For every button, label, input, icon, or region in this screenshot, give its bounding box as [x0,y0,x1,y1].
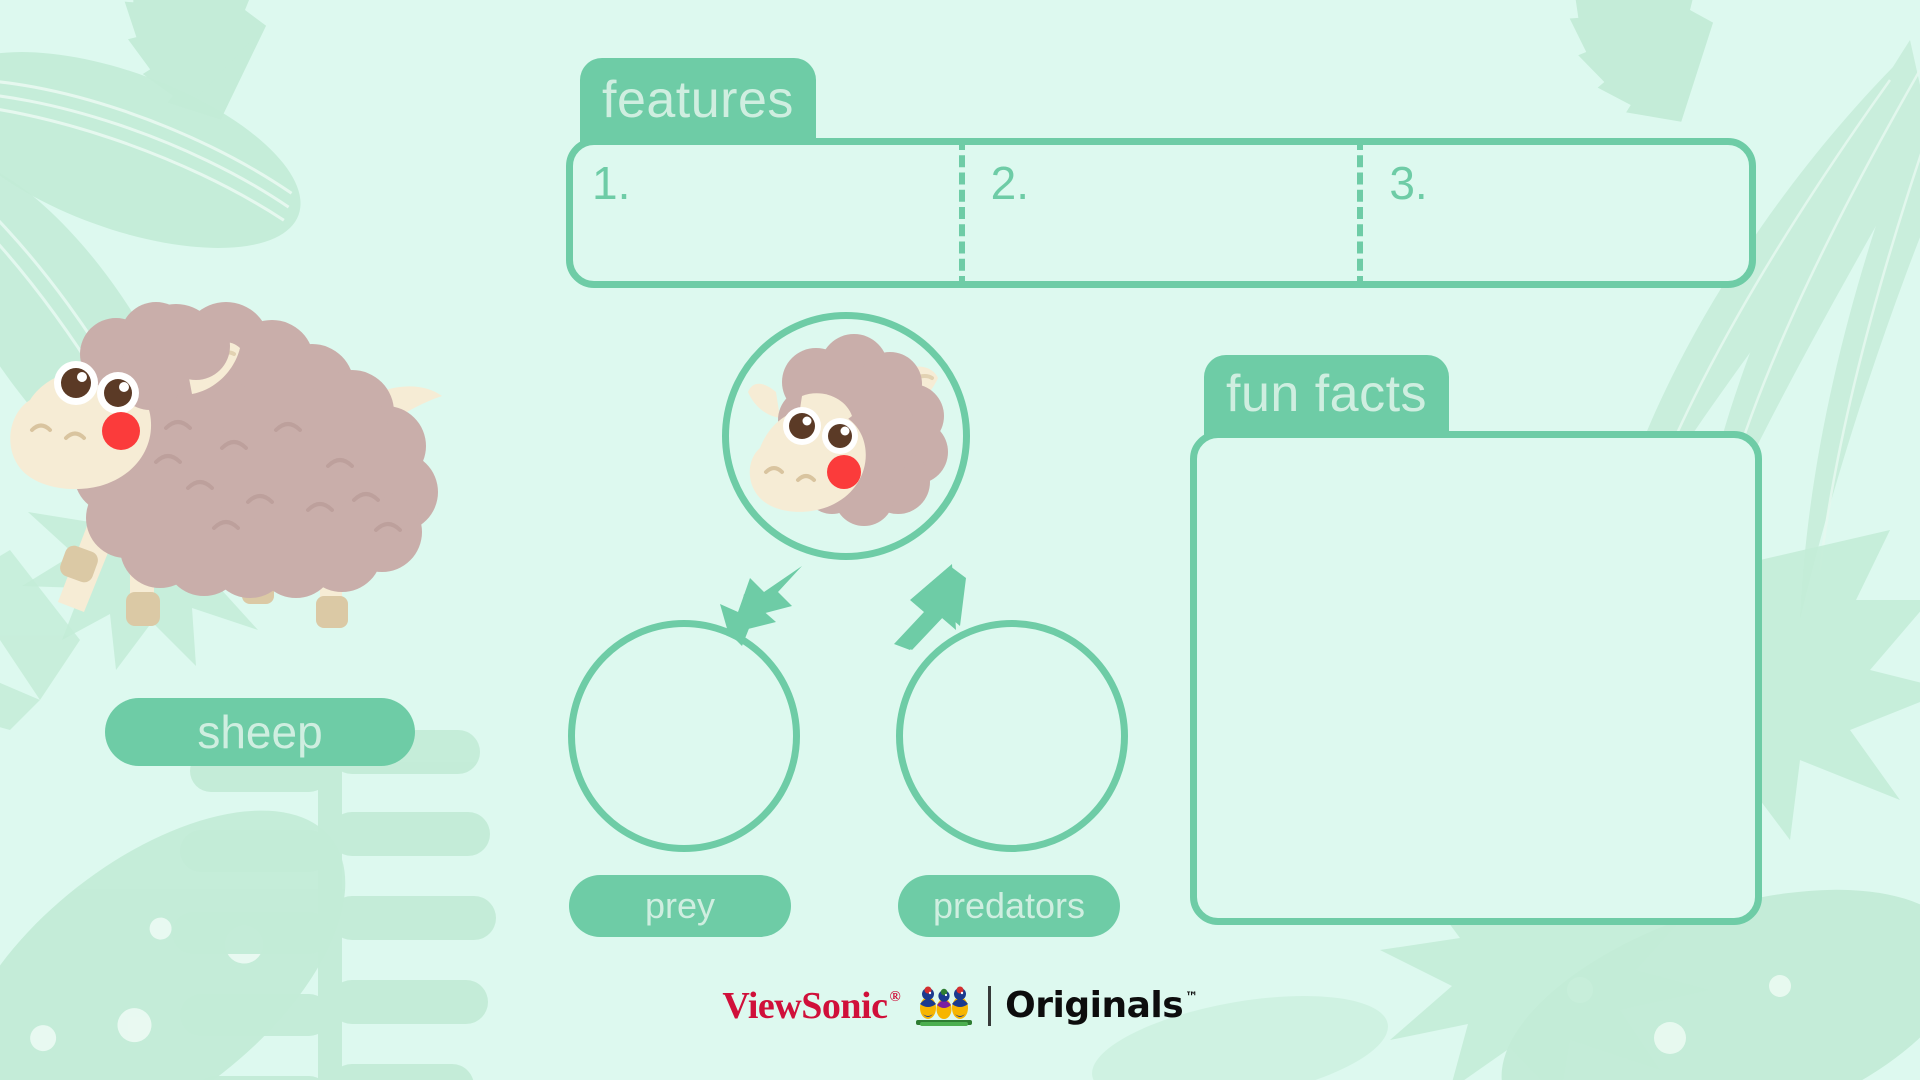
features-tab[interactable]: features [580,58,816,148]
fun-facts-tab[interactable]: fun facts [1204,355,1449,439]
prey-label-pill: prey [569,875,791,937]
feature-column-3[interactable]: 3. [1357,138,1756,288]
viewsonic-finches-icon [914,984,974,1028]
originals-trademark: ™ [1185,991,1198,1004]
viewsonic-wordmark: ViewSonic ® [722,987,900,1025]
features-tab-label: features [602,74,794,126]
features-section: features 1. 2. 3. [566,58,1778,288]
sheep-illustration [0,280,500,680]
brand-divider [988,986,991,1026]
feature-column-2[interactable]: 2. [959,138,1358,288]
feature-number-1: 1. [592,157,630,209]
features-columns: 1. 2. 3. [566,138,1756,288]
predators-circle[interactable] [896,620,1128,852]
predators-label: predators [933,885,1085,927]
originals-wordmark: Originals ™ [1005,988,1198,1024]
animal-name-pill: sheep [105,698,415,766]
fun-facts-section: fun facts [1190,355,1780,925]
feature-number-2: 2. [991,157,1029,209]
worksheet-canvas: features 1. 2. 3. fun facts [0,0,1920,1080]
fun-facts-notes-area[interactable] [1190,431,1762,925]
viewsonic-registered-mark: ® [889,990,900,1005]
brand-footer: ViewSonic ® [0,975,1920,1037]
feature-column-1[interactable]: 1. [566,138,959,288]
feature-number-3: 3. [1389,157,1427,209]
sheep-head-illustration [740,330,952,542]
viewsonic-text: ViewSonic [722,987,887,1025]
originals-text: Originals [1005,988,1183,1024]
fun-facts-tab-label: fun facts [1226,368,1427,420]
animal-name-label: sheep [197,705,322,759]
predators-label-pill: predators [898,875,1120,937]
prey-circle[interactable] [568,620,800,852]
prey-label: prey [645,885,715,927]
